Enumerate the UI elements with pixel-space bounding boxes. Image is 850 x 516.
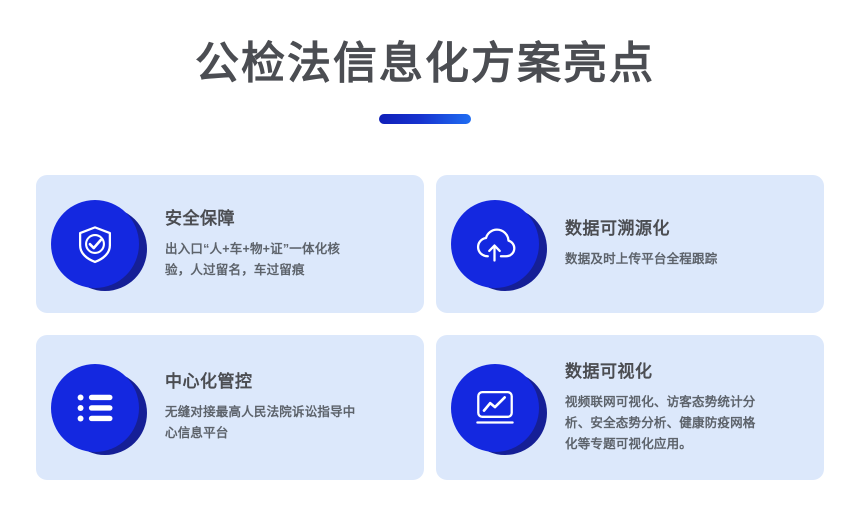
page-title: 公检法信息化方案亮点 xyxy=(0,36,850,92)
card-text: 中心化管控 无缝对接最高人民法院诉讼指导中心信息平台 xyxy=(159,371,424,444)
card-description: 视频联网可视化、访客态势统计分析、安全态势分析、健康防疫网格化等专题可视化应用。 xyxy=(565,392,763,455)
card-title: 中心化管控 xyxy=(165,371,406,393)
highlights-page: 公检法信息化方案亮点 安全保障 出入口“人+车+物+证”一体化核验，人过留名，车… xyxy=(0,0,850,516)
icon-medallion xyxy=(51,361,155,455)
page-header: 公检法信息化方案亮点 xyxy=(0,36,850,124)
highlight-card-centralized-control[interactable]: 中心化管控 无缝对接最高人民法院诉讼指导中心信息平台 xyxy=(36,335,424,480)
icon-circle xyxy=(451,364,539,452)
cloud-upload-icon xyxy=(473,224,517,264)
list-bullets-icon xyxy=(74,389,116,427)
highlight-card-data-traceability[interactable]: 数据可溯源化 数据及时上传平台全程跟踪 xyxy=(436,175,824,313)
card-title: 数据可视化 xyxy=(565,361,806,383)
card-text: 数据可溯源化 数据及时上传平台全程跟踪 xyxy=(559,218,824,270)
highlight-card-grid: 安全保障 出入口“人+车+物+证”一体化核验，人过留名，车过留痕 数据可溯源化 … xyxy=(36,175,814,480)
shield-check-icon xyxy=(74,223,116,265)
icon-circle xyxy=(451,200,539,288)
card-text: 数据可视化 视频联网可视化、访客态势统计分析、安全态势分析、健康防疫网格化等专题… xyxy=(559,361,824,455)
title-underline-bar xyxy=(379,114,471,124)
icon-medallion xyxy=(451,197,555,291)
icon-medallion xyxy=(451,361,555,455)
icon-circle xyxy=(51,200,139,288)
card-description: 无缝对接最高人民法院诉讼指导中心信息平台 xyxy=(165,402,361,444)
highlight-card-security[interactable]: 安全保障 出入口“人+车+物+证”一体化核验，人过留名，车过留痕 xyxy=(36,175,424,313)
card-description: 数据及时上传平台全程跟踪 xyxy=(565,249,795,270)
chart-monitor-icon xyxy=(473,387,517,429)
icon-circle xyxy=(51,364,139,452)
card-description: 出入口“人+车+物+证”一体化核验，人过留名，车过留痕 xyxy=(165,239,361,281)
icon-medallion xyxy=(51,197,155,291)
card-title: 数据可溯源化 xyxy=(565,218,806,240)
card-text: 安全保障 出入口“人+车+物+证”一体化核验，人过留名，车过留痕 xyxy=(159,208,424,281)
card-title: 安全保障 xyxy=(165,208,406,230)
highlight-card-data-visualization[interactable]: 数据可视化 视频联网可视化、访客态势统计分析、安全态势分析、健康防疫网格化等专题… xyxy=(436,335,824,480)
